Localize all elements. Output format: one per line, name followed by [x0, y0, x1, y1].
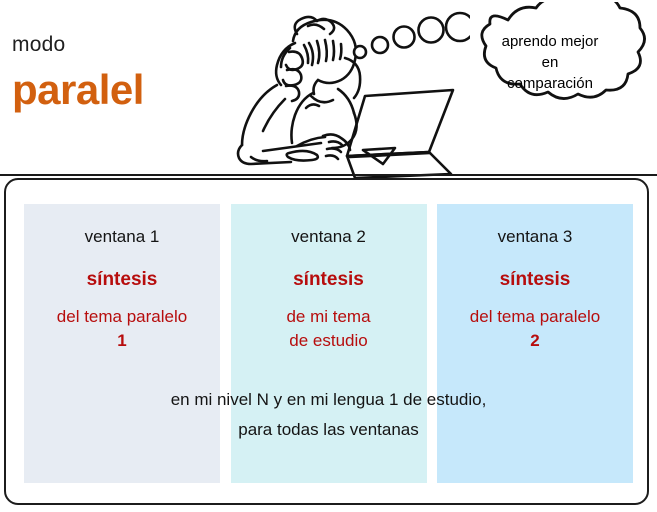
synthesis-title-2: síntesis [231, 268, 427, 292]
synthesis-detail-2: de mi tema de estudio [231, 305, 427, 353]
thought-line-3: comparación [470, 73, 630, 94]
desk-line-divider [0, 174, 657, 176]
window-column-2[interactable]: ventana 2 síntesis de mi tema de estudio [231, 204, 427, 483]
parallel-windows-panel: ventana 1 síntesis del tema paralelo 1 v… [4, 178, 649, 505]
thought-cloud-text: aprendo mejor en comparación [470, 31, 630, 94]
detail-line-2b: de estudio [289, 331, 367, 350]
synthesis-title-1: síntesis [24, 268, 220, 292]
synthesis-title-3: síntesis [437, 268, 633, 292]
thought-line-2: en [470, 52, 630, 73]
window-label-3: ventana 3 [437, 226, 633, 248]
window-column-3[interactable]: ventana 3 síntesis del tema paralelo 2 [437, 204, 633, 483]
detail-line-3b: 2 [530, 331, 539, 350]
windows-columns: ventana 1 síntesis del tema paralelo 1 v… [24, 204, 633, 483]
window-label-1: ventana 1 [24, 226, 220, 248]
synthesis-detail-3: del tema paralelo 2 [437, 305, 633, 353]
window-label-2: ventana 2 [231, 226, 427, 248]
mode-label: modo [12, 33, 65, 57]
detail-line-1a: del tema paralelo [57, 307, 187, 326]
window-column-1[interactable]: ventana 1 síntesis del tema paralelo 1 [24, 204, 220, 483]
detail-line-2a: de mi tema [286, 307, 370, 326]
thought-line-1: aprendo mejor [470, 31, 630, 52]
detail-line-3a: del tema paralelo [470, 307, 600, 326]
mode-value: paralel [12, 66, 144, 114]
detail-line-1b: 1 [117, 331, 126, 350]
synthesis-detail-1: del tema paralelo 1 [24, 305, 220, 353]
header-illustration-area: modo paralel [0, 0, 657, 178]
